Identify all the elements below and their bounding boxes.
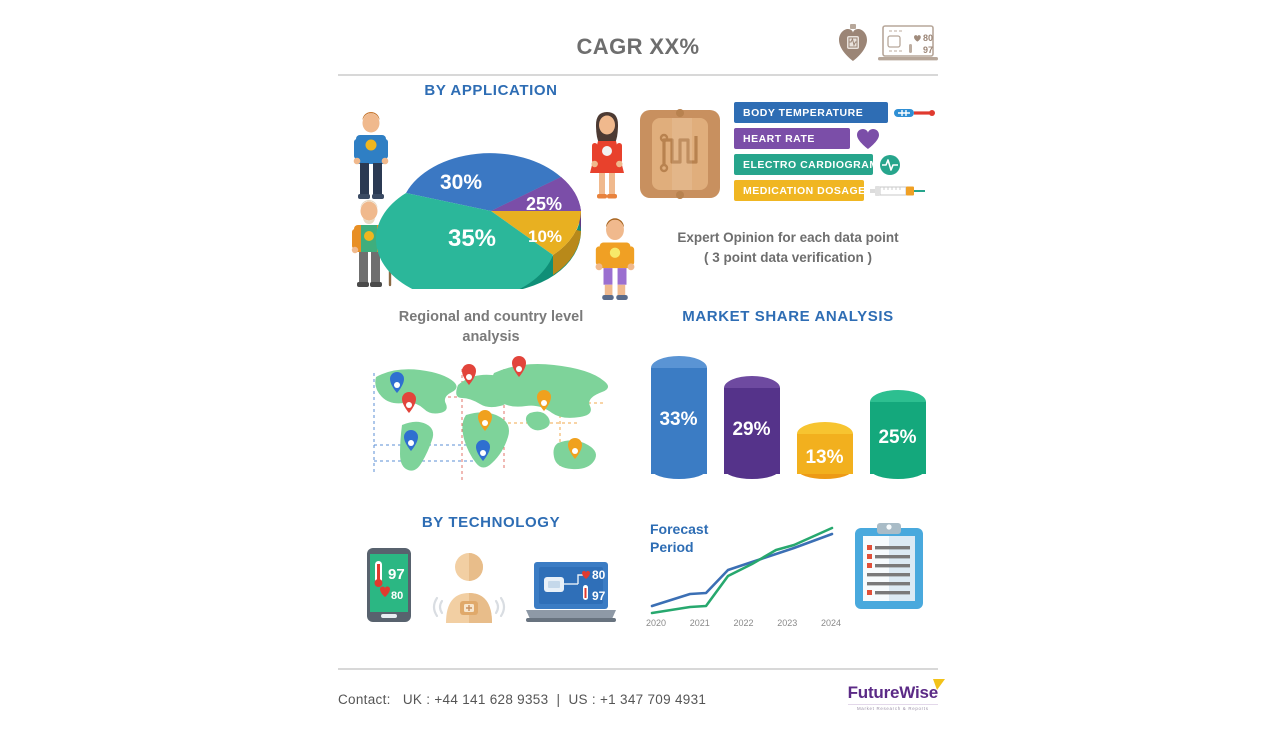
- market-share-section: MARKET SHARE ANALYSIS 33% 29%: [638, 308, 938, 510]
- forecast-series-2: [652, 528, 832, 613]
- bar-3: 25%: [870, 390, 926, 479]
- forecast-year: 2021: [690, 618, 710, 628]
- content-grid: BY APPLICATION: [338, 82, 938, 660]
- pie-label-1: 25%: [526, 194, 562, 214]
- device-row-body-temperature: BODY TEMPERATURE: [734, 102, 938, 123]
- phone-separator: |: [557, 692, 561, 707]
- flexible-sensor-patch-icon: [638, 104, 722, 204]
- bar-2: 13%: [797, 422, 853, 479]
- laptop-top-value: 80: [592, 568, 606, 582]
- header-divider: [338, 74, 938, 76]
- map-pin: [402, 392, 416, 413]
- us-phone[interactable]: +1 347 709 4931: [600, 692, 706, 707]
- device-rows: BODY TEMPERATURE HEART RATE: [734, 102, 938, 206]
- forecast-year-axis: 2020 2021 2022 2023 2024: [646, 618, 841, 628]
- device-row-electro-cardiogram: ELECTRO CARDIOGRAM: [734, 154, 938, 175]
- logo-wordmark: FutureWise: [848, 683, 938, 703]
- by-technology-title: BY TECHNOLOGY: [346, 514, 636, 531]
- device-panel-section: BODY TEMPERATURE HEART RATE: [638, 82, 938, 304]
- header: CAGR XX% 80: [338, 8, 938, 74]
- by-application-title: BY APPLICATION: [346, 82, 636, 99]
- logo-swoosh-icon: [932, 678, 946, 692]
- device-chip-label: ELECTRO CARDIOGRAM: [734, 154, 873, 175]
- expert-opinion-note: Expert Opinion for each data point ( 3 p…: [638, 228, 938, 267]
- forecast-year: 2023: [777, 618, 797, 628]
- pie-label-3: 35%: [448, 225, 496, 252]
- bar-0: 33%: [651, 356, 707, 479]
- world-map: [362, 355, 612, 495]
- regional-title-line2: analysis: [346, 328, 636, 348]
- pie-label-2: 10%: [528, 227, 562, 246]
- heart-monitor-icon: [838, 24, 868, 62]
- header-icon-group: 80 97: [838, 24, 938, 62]
- market-share-chart: 33% 29% 13%: [638, 339, 938, 479]
- forecast-year: 2020: [646, 618, 666, 628]
- futurewise-logo[interactable]: FutureWise Market Research & Reports: [848, 683, 938, 711]
- regional-title-line1: Regional and country level: [346, 308, 636, 328]
- pie-label-0: 30%: [440, 171, 482, 194]
- body-sensor-patch-icon: [426, 551, 512, 623]
- forecast-year: 2024: [821, 618, 841, 628]
- svg-text:80: 80: [923, 33, 933, 43]
- heart-icon: [856, 128, 880, 150]
- device-chip-label: MEDICATION DOSAGE: [734, 180, 864, 201]
- contact-line: Contact: UK : +44 141 628 9353 | US : +1…: [338, 692, 706, 707]
- uk-phone[interactable]: +44 141 628 9353: [434, 692, 548, 707]
- regional-analysis-section: Regional and country level analysis: [346, 308, 636, 510]
- device-row-heart-rate: HEART RATE: [734, 128, 938, 149]
- laptop-vitals-icon-tech: 80 97: [526, 561, 616, 623]
- logo-tagline: Market Research & Reports: [848, 704, 938, 711]
- phone-top-value: 97: [388, 566, 405, 583]
- uk-label: UK :: [403, 692, 430, 707]
- bar-value: 13%: [797, 447, 853, 469]
- smartphone-vitals-icon: 97 80: [366, 547, 412, 623]
- market-share-title: MARKET SHARE ANALYSIS: [638, 308, 938, 325]
- infographic-page: CAGR XX% 80: [0, 0, 1280, 731]
- contact-label: Contact:: [338, 692, 391, 707]
- forecast-section: Forecast Period 2020 2021 2022 2023 2024: [638, 514, 938, 660]
- forecast-line-chart: [644, 518, 839, 628]
- pie-chart: 30% 25% 10% 35%: [346, 99, 636, 289]
- infographic-sheet: CAGR XX% 80: [338, 8, 938, 720]
- footer-divider: [338, 668, 938, 670]
- bar-value: 33%: [651, 409, 707, 431]
- bar-1: 29%: [724, 376, 780, 479]
- laptop-vitals-icon: 80 97: [878, 24, 938, 62]
- device-chip-label: HEART RATE: [734, 128, 850, 149]
- expert-opinion-line2: ( 3 point data verification ): [638, 248, 938, 268]
- ecg-icon: [879, 154, 901, 176]
- clipboard-checklist-icon: [854, 522, 924, 610]
- laptop-bottom-value: 97: [592, 589, 606, 603]
- by-application-section: BY APPLICATION: [346, 82, 636, 304]
- bar-value: 25%: [870, 427, 926, 449]
- svg-text:97: 97: [923, 45, 933, 55]
- us-label: US :: [568, 692, 595, 707]
- logo-part1: Future: [848, 683, 900, 702]
- device-chip-label: BODY TEMPERATURE: [734, 102, 888, 123]
- syringe-icon: [870, 184, 926, 198]
- expert-opinion-line1: Expert Opinion for each data point: [638, 228, 938, 248]
- device-row-medication-dosage: MEDICATION DOSAGE: [734, 180, 938, 201]
- pie-chart-area: 30% 25% 10% 35%: [346, 99, 636, 289]
- forecast-year: 2022: [733, 618, 753, 628]
- by-technology-section: BY TECHNOLOGY 97 80: [346, 514, 636, 660]
- bar-value: 29%: [724, 419, 780, 441]
- footer: Contact: UK : +44 141 628 9353 | US : +1…: [338, 680, 938, 720]
- phone-bottom-value: 80: [391, 590, 403, 602]
- thermometer-icon: [894, 106, 938, 120]
